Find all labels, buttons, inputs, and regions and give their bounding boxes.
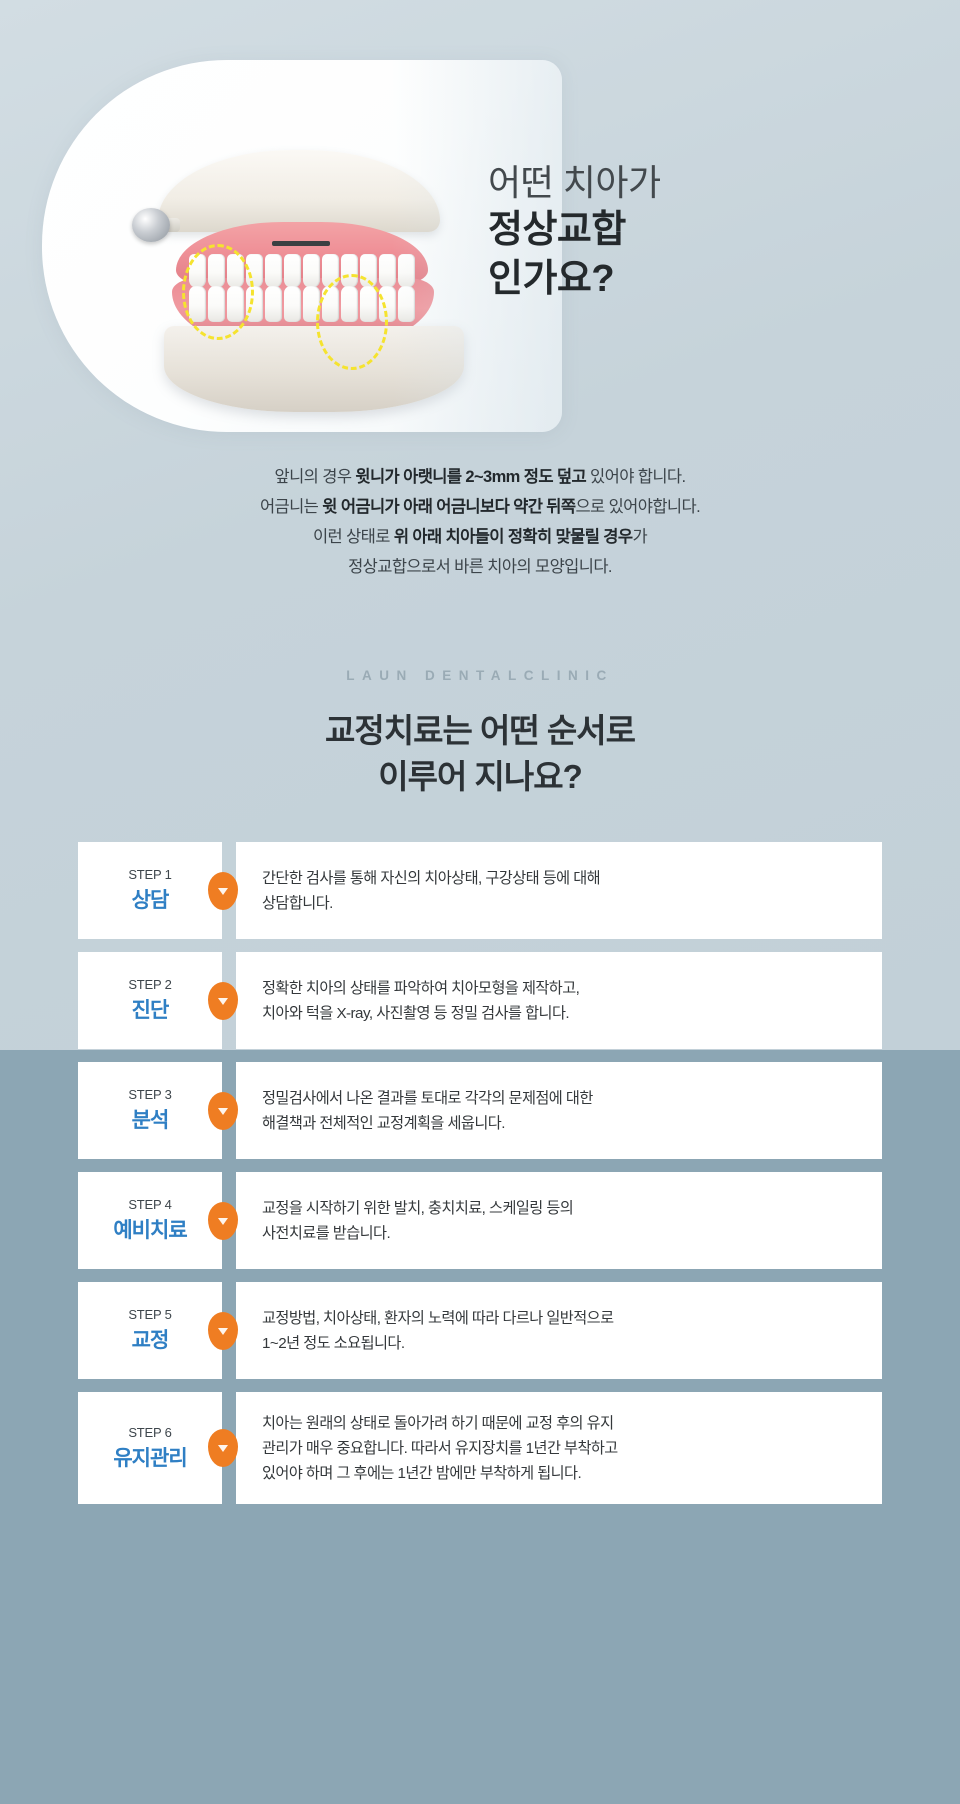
step-description-panel: 정밀검사에서 나온 결과를 토대로 각각의 문제점에 대한 해결책과 전체적인 … [236, 1062, 882, 1159]
step-desc-line1: 간단한 검사를 통해 자신의 치아상태, 구강상태 등에 대해 [262, 866, 600, 891]
step-desc-line2: 관리가 매우 중요합니다. 따라서 유지장치를 1년간 부착하고 [262, 1436, 618, 1461]
highlight-circle-right [316, 274, 388, 370]
intro-line1-b: 윗니가 아랫니를 2~3mm 정도 덮고 [355, 468, 586, 486]
step-desc-line1: 교정을 시작하기 위한 발치, 충치치료, 스케일링 등의 [262, 1196, 573, 1221]
step-description: 정확한 치아의 상태를 파악하여 치아모형을 제작하고, 치아와 턱을 X-ra… [262, 976, 579, 1026]
upper-jaw-plate [158, 150, 440, 232]
step-number: STEP 4 [128, 1197, 171, 1212]
step-description: 교정방법, 치아상태, 환자의 노력에 따라 다르나 일반적으로 1~2년 정도… [262, 1306, 614, 1356]
intro-line1-c: 있어야 합니다. [586, 468, 685, 486]
step-description-panel: 교정을 시작하기 위한 발치, 충치치료, 스케일링 등의 사전치료를 받습니다… [236, 1172, 882, 1269]
page-root: 어떤 치아가 정상교합 인가요? 앞니의 경우 윗니가 아랫니를 2~3mm 정… [0, 0, 960, 1804]
tooth [398, 254, 415, 288]
intro-paragraph: 앞니의 경우 윗니가 아랫니를 2~3mm 정도 덮고 있어야 합니다. 어금니… [0, 462, 960, 582]
hero-title-line2: 정상교합 [488, 206, 908, 255]
step-title: 분석 [132, 1104, 169, 1134]
step-description: 간단한 검사를 통해 자신의 치아상태, 구강상태 등에 대해 상담합니다. [262, 866, 600, 916]
step-title: 예비치료 [113, 1214, 186, 1244]
intro-line3-c: 가 [632, 528, 647, 546]
step-item-5[interactable]: STEP 5 교정 교정방법, 치아상태, 환자의 노력에 따라 다르나 일반적… [78, 1282, 882, 1379]
tooth [379, 254, 396, 288]
step-desc-line1: 교정방법, 치아상태, 환자의 노력에 따라 다르나 일반적으로 [262, 1306, 614, 1331]
intro-line2-c: 으로 있어야합니다. [575, 498, 700, 516]
step-desc-line3: 있어야 하며 그 후에는 1년간 밤에만 부착하게 됩니다. [262, 1461, 618, 1486]
step-description-panel: 교정방법, 치아상태, 환자의 노력에 따라 다르나 일반적으로 1~2년 정도… [236, 1282, 882, 1379]
step-item-4[interactable]: STEP 4 예비치료 교정을 시작하기 위한 발치, 충치치료, 스케일링 등… [78, 1172, 882, 1269]
intro-line2-b: 윗 어금니가 아래 어금니보다 약간 뒤쪽 [322, 498, 575, 516]
intro-line3-b: 위 아래 치아들이 정확히 맞물릴 경우 [394, 528, 633, 546]
step-label-panel: STEP 3 분석 [78, 1062, 222, 1159]
tooth [284, 286, 301, 322]
step-desc-line1: 치아는 원래의 상태로 돌아가려 하기 때문에 교정 후의 유지 [262, 1411, 618, 1436]
step-description: 교정을 시작하기 위한 발치, 충치치료, 스케일링 등의 사전치료를 받습니다… [262, 1196, 573, 1246]
tooth [303, 254, 320, 288]
step-desc-line1: 정밀검사에서 나온 결과를 토대로 각각의 문제점에 대한 [262, 1086, 593, 1111]
intro-line-3: 이런 상태로 위 아래 치아들이 정확히 맞물릴 경우가 [0, 522, 960, 552]
step-desc-line2: 해결책과 전체적인 교정계획을 세웁니다. [262, 1111, 593, 1136]
step-desc-line1: 정확한 치아의 상태를 파악하여 치아모형을 제작하고, [262, 976, 579, 1001]
step-number: STEP 2 [128, 977, 171, 992]
hero-image-panel [42, 60, 562, 432]
step-description-panel: 치아는 원래의 상태로 돌아가려 하기 때문에 교정 후의 유지 관리가 매우 … [236, 1392, 882, 1504]
step-item-3[interactable]: STEP 3 분석 정밀검사에서 나온 결과를 토대로 각각의 문제점에 대한 … [78, 1062, 882, 1159]
intro-line-4: 정상교합으로서 바른 치아의 모양입니다. [0, 552, 960, 582]
step-label-panel: STEP 6 유지관리 [78, 1392, 222, 1504]
step-title: 진단 [132, 994, 169, 1024]
step-item-6[interactable]: STEP 6 유지관리 치아는 원래의 상태로 돌아가려 하기 때문에 교정 후… [78, 1392, 882, 1504]
step-title: 교정 [132, 1324, 169, 1354]
step-desc-line2: 치아와 턱을 X-ray, 사진촬영 등 정밀 검사를 합니다. [262, 1001, 579, 1026]
step-number: STEP 1 [128, 867, 171, 882]
intro-line3-a: 이런 상태로 [313, 528, 394, 546]
section-title-line1: 교정치료는 어떤 순서로 [0, 708, 960, 754]
hero-section: 어떤 치아가 정상교합 인가요? [0, 0, 960, 455]
tooth [265, 254, 282, 288]
section-title: 교정치료는 어떤 순서로 이루어 지나요? [0, 708, 960, 800]
step-description: 정밀검사에서 나온 결과를 토대로 각각의 문제점에 대한 해결책과 전체적인 … [262, 1086, 593, 1136]
dental-model-photo [120, 138, 500, 418]
brand-eyebrow: LAUN DENTALCLINIC [0, 668, 960, 683]
step-label-panel: STEP 2 진단 [78, 952, 222, 1049]
steps-list: STEP 1 상담 간단한 검사를 통해 자신의 치아상태, 구강상태 등에 대… [78, 842, 882, 1517]
hinge-knob-icon [132, 208, 170, 242]
reference-bar [272, 241, 330, 246]
step-title: 유지관리 [113, 1442, 186, 1472]
section-title-line2: 이루어 지나요? [0, 754, 960, 800]
intro-line-1: 앞니의 경우 윗니가 아랫니를 2~3mm 정도 덮고 있어야 합니다. [0, 462, 960, 492]
highlight-circle-left [182, 244, 254, 340]
step-label-panel: STEP 1 상담 [78, 842, 222, 939]
hero-title-line1: 어떤 치아가 [488, 160, 908, 206]
hero-title: 어떤 치아가 정상교합 인가요? [488, 160, 908, 303]
step-title: 상담 [132, 884, 169, 914]
hero-title-line3: 인가요? [488, 255, 908, 304]
step-number: STEP 6 [128, 1425, 171, 1440]
step-number: STEP 3 [128, 1087, 171, 1102]
step-desc-line2: 상담합니다. [262, 891, 600, 916]
step-desc-line2: 1~2년 정도 소요됩니다. [262, 1331, 614, 1356]
tooth [284, 254, 301, 288]
intro-line2-a: 어금니는 [260, 498, 322, 516]
tooth [265, 286, 282, 322]
step-label-panel: STEP 4 예비치료 [78, 1172, 222, 1269]
step-description-panel: 간단한 검사를 통해 자신의 치아상태, 구강상태 등에 대해 상담합니다. [236, 842, 882, 939]
tooth [398, 286, 415, 322]
intro-line1-a: 앞니의 경우 [275, 468, 356, 486]
step-description: 치아는 원래의 상태로 돌아가려 하기 때문에 교정 후의 유지 관리가 매우 … [262, 1411, 618, 1486]
step-item-2[interactable]: STEP 2 진단 정확한 치아의 상태를 파악하여 치아모형을 제작하고, 치… [78, 952, 882, 1049]
step-desc-line2: 사전치료를 받습니다. [262, 1221, 573, 1246]
step-number: STEP 5 [128, 1307, 171, 1322]
step-item-1[interactable]: STEP 1 상담 간단한 검사를 통해 자신의 치아상태, 구강상태 등에 대… [78, 842, 882, 939]
model-base [164, 326, 464, 412]
step-description-panel: 정확한 치아의 상태를 파악하여 치아모형을 제작하고, 치아와 턱을 X-ra… [236, 952, 882, 1049]
intro-line-2: 어금니는 윗 어금니가 아래 어금니보다 약간 뒤쪽으로 있어야합니다. [0, 492, 960, 522]
step-label-panel: STEP 5 교정 [78, 1282, 222, 1379]
